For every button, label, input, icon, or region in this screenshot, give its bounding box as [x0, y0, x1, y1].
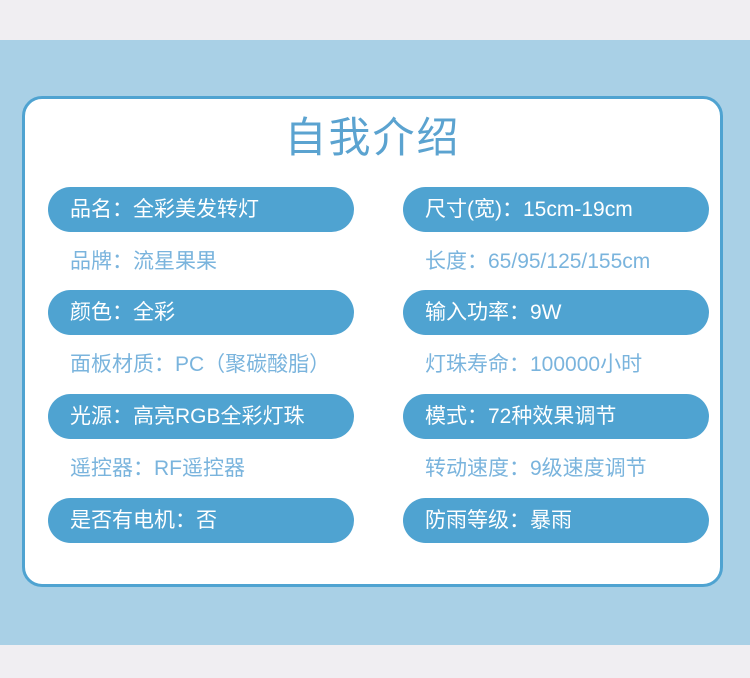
spec-row: 颜色：全彩 [48, 290, 354, 335]
spec-row-label: 面板材质：PC（聚碳酸脂） [70, 353, 330, 377]
spec-row-label: 颜色：全彩 [70, 301, 175, 325]
spec-row: 光源：高亮RGB全彩灯珠 [48, 394, 354, 439]
spec-column-left: 品名：全彩美发转灯 品牌：流星果果 颜色：全彩 面板材质：PC（聚碳酸脂） 光源… [48, 187, 354, 557]
bottom-background-strip [0, 645, 750, 678]
spec-row-label: 防雨等级：暴雨 [425, 509, 572, 533]
spec-row: 模式：72种效果调节 [403, 394, 709, 439]
spec-row-label: 长度：65/95/125/155cm [425, 250, 650, 274]
product-detail-page: 自我介绍 品名：全彩美发转灯 品牌：流星果果 颜色：全彩 面板材质：PC（聚碳酸… [0, 0, 750, 678]
spec-row-label: 输入功率：9W [425, 301, 562, 325]
spec-grid: 品名：全彩美发转灯 品牌：流星果果 颜色：全彩 面板材质：PC（聚碳酸脂） 光源… [25, 187, 720, 557]
spec-row-label: 遥控器：RF遥控器 [70, 457, 245, 481]
spec-row-label: 转动速度：9级速度调节 [425, 457, 647, 481]
spec-row: 长度：65/95/125/155cm [403, 239, 709, 284]
spec-row-label: 灯珠寿命：100000小时 [425, 353, 642, 377]
spec-row-label: 是否有电机：否 [70, 509, 217, 533]
spec-row: 是否有电机：否 [48, 498, 354, 543]
spec-row-label: 尺寸(宽)：15cm-19cm [425, 198, 633, 222]
spec-row-label: 品牌：流星果果 [70, 250, 217, 274]
spec-column-right: 尺寸(宽)：15cm-19cm 长度：65/95/125/155cm 输入功率：… [403, 187, 709, 557]
spec-row: 灯珠寿命：100000小时 [403, 342, 709, 387]
spec-row-label: 光源：高亮RGB全彩灯珠 [70, 405, 305, 429]
page-title: 自我介绍 [25, 113, 720, 163]
spec-row: 品名：全彩美发转灯 [48, 187, 354, 232]
spec-row: 面板材质：PC（聚碳酸脂） [48, 342, 354, 387]
spec-row: 尺寸(宽)：15cm-19cm [403, 187, 709, 232]
spec-row: 品牌：流星果果 [48, 239, 354, 284]
spec-row: 防雨等级：暴雨 [403, 498, 709, 543]
top-background-strip [0, 0, 750, 40]
spec-row-label: 品名：全彩美发转灯 [70, 198, 259, 222]
spec-row: 遥控器：RF遥控器 [48, 446, 354, 491]
spec-card: 自我介绍 品名：全彩美发转灯 品牌：流星果果 颜色：全彩 面板材质：PC（聚碳酸… [22, 96, 723, 587]
spec-row-label: 模式：72种效果调节 [425, 405, 616, 429]
spec-row: 输入功率：9W [403, 290, 709, 335]
spec-row: 转动速度：9级速度调节 [403, 446, 709, 491]
